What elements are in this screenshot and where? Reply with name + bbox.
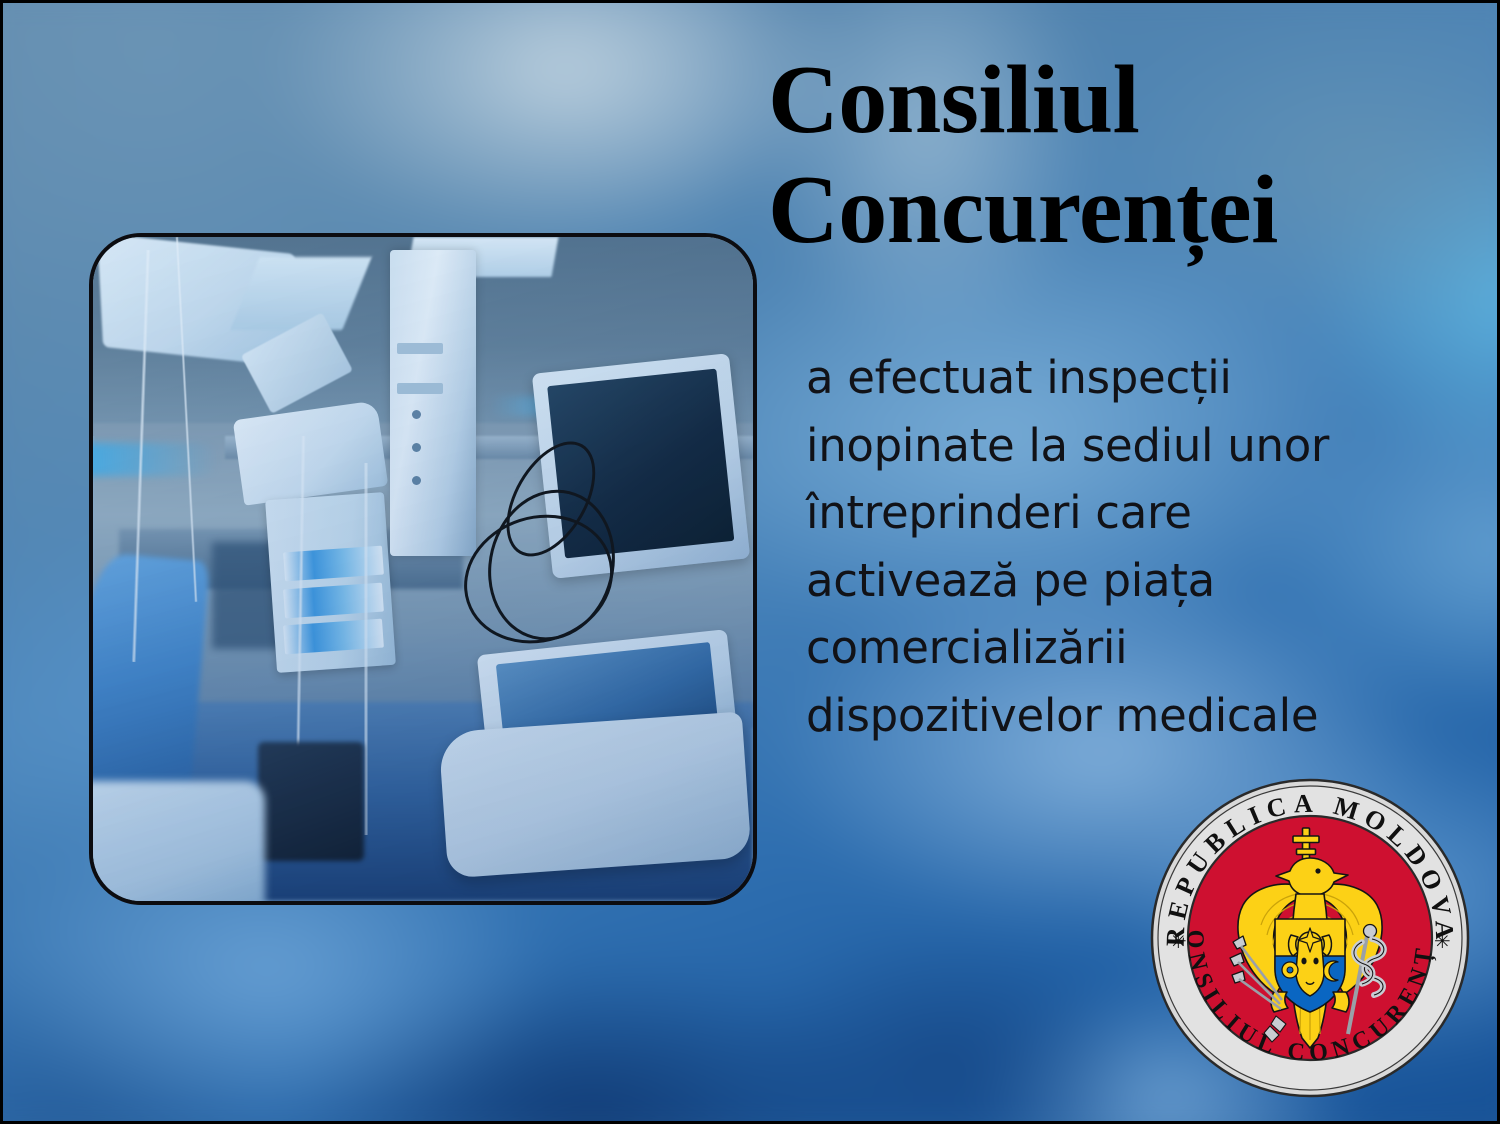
hospital-photo bbox=[93, 237, 753, 901]
seal-star-left: ✳ bbox=[1170, 929, 1187, 953]
hospital-photo-card bbox=[89, 233, 757, 905]
page-title-line-1: Consiliul bbox=[768, 46, 1468, 156]
body-line-3: întreprinderi care bbox=[806, 479, 1446, 547]
photo-blue-tint bbox=[93, 237, 753, 901]
page-title-line-2: Concurenței bbox=[768, 156, 1468, 266]
page-title: Consiliul Concurenței bbox=[768, 46, 1468, 266]
poster-canvas: Consiliul Concurenței a efectuat inspecț… bbox=[0, 0, 1500, 1124]
body-line-6: dispozitivelor medicale bbox=[806, 682, 1446, 750]
eagle-right-talon bbox=[1332, 992, 1349, 1012]
body-line-2: inopinate la sediul unor bbox=[806, 412, 1446, 480]
rose-icon bbox=[1282, 962, 1298, 978]
body-paragraph: a efectuat inspecții inopinate la sediul… bbox=[806, 344, 1446, 749]
body-line-5: comercializării bbox=[806, 614, 1446, 682]
eagle-eye bbox=[1315, 868, 1320, 873]
body-line-4: activează pe piața bbox=[806, 547, 1446, 615]
seal-star-right: ✳ bbox=[1434, 929, 1451, 953]
body-line-1: a efectuat inspecții bbox=[806, 344, 1446, 412]
consiliul-concurentei-seal: REPUBLICA MOLDOVA CONSILIUL CONCURENȚEI … bbox=[1148, 776, 1472, 1100]
